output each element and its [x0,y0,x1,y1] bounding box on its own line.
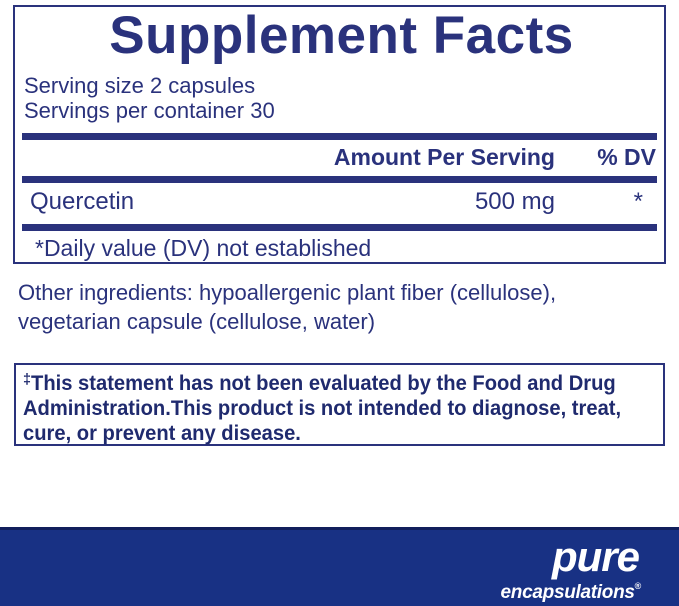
nutrient-name: Quercetin [30,188,134,216]
brand-name-primary: pure [552,536,639,578]
disclaimer-line-2: Administration.This product is not inten… [23,396,637,421]
brand-name-secondary: encapsulations® [501,576,641,603]
servings-per-container-line: Servings per container 30 [24,98,275,123]
table-column-headers: Amount Per Serving % DV [22,144,657,174]
disclaimer-line-3: cure, or prevent any disease. [23,421,637,446]
brand-logo: pure encapsulations® [453,538,643,600]
disclaimer-line-1: ‡This statement has not been evaluated b… [23,367,637,396]
column-header-percent-dv: % DV [597,144,656,171]
column-header-amount-per-serving: Amount Per Serving [334,144,555,171]
serving-size-line: Serving size 2 capsules [24,73,275,98]
serving-information: Serving size 2 capsules Servings per con… [24,73,275,123]
nutrient-percent-dv: * [634,188,643,216]
brand-name-secondary-text: encapsulations [501,582,635,603]
fda-disclaimer-text: ‡This statement has not been evaluated b… [23,367,637,446]
disclaimer-line-1-text: This statement has not been evaluated by… [31,372,616,395]
divider-above-column-headers [22,133,657,140]
nutrient-amount: 500 mg [475,188,555,216]
page-title: Supplement Facts [29,5,654,67]
other-ingredients-line-1: Other ingredients: hypoallergenic plant … [18,278,658,307]
table-row: Quercetin 500 mg * [22,188,657,220]
supplement-facts-panel: Supplement Facts Serving size 2 capsules… [13,5,666,264]
daily-value-footnote: *Daily value (DV) not established [35,235,371,262]
divider-below-column-headers [22,176,657,183]
divider-below-nutrient-rows [22,224,657,231]
other-ingredients: Other ingredients: hypoallergenic plant … [18,278,658,336]
fda-disclaimer-box: ‡This statement has not been evaluated b… [14,363,665,446]
brand-footer-band: pure encapsulations® [0,527,679,606]
other-ingredients-line-2: vegetarian capsule (cellulose, water) [18,307,658,336]
registered-trademark-icon: ® [635,581,641,591]
